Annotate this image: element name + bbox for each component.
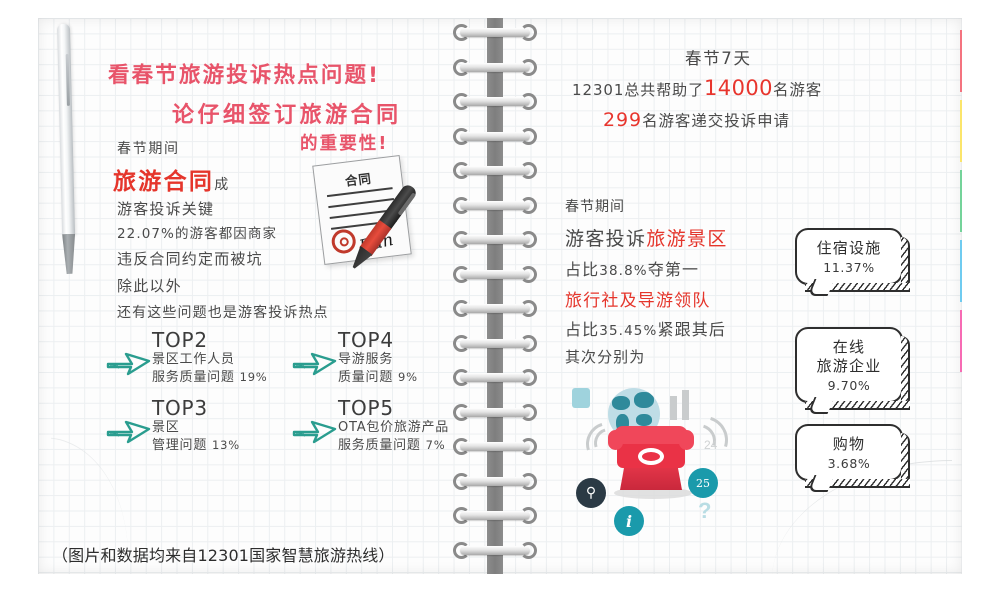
bubble-hatch-shadow [805, 283, 910, 292]
arrow-right-icon [106, 342, 152, 376]
spiral-ring [452, 231, 538, 248]
ring-cap [520, 128, 537, 145]
left-row-5: 还有这些问题也是游客投诉热点 [117, 302, 329, 322]
agency-percent: 35.45% [599, 323, 657, 339]
source-attribution: （图片和数据均来自12301国家智慧旅游热线） [52, 542, 395, 566]
telephone-dial [638, 448, 664, 465]
spiral-ring [452, 438, 538, 455]
complaints-count: 299 [603, 109, 642, 131]
row5-prefix: 占比 [565, 320, 599, 339]
ring-cap [520, 93, 537, 110]
spiral-ring [452, 266, 538, 283]
ring-cap [520, 369, 537, 386]
row3-suffix: 夺第一 [648, 260, 699, 279]
ring-cap [520, 59, 537, 76]
ring-cap [520, 438, 537, 455]
headline-line-1: 看春节旅游投诉热点问题! [108, 58, 380, 89]
left-row-4: 除此以外 [117, 275, 182, 296]
spiral-ring [452, 93, 538, 110]
key-suffix: 成 [214, 177, 229, 193]
spiral-ring [452, 507, 538, 524]
spiral-ring [452, 24, 538, 41]
top-percent: 19% [240, 370, 268, 384]
tourists-helped-count: 14000 [704, 76, 773, 100]
ring-cap [520, 473, 537, 490]
question-mark-icon: ? [698, 498, 711, 524]
bubble-title: 在线 旅游企业 [801, 338, 897, 376]
row5-suffix: 紧跟其后 [657, 320, 725, 339]
stat-bubble-online-agency: 在线 旅游企业 9.70% [795, 327, 903, 403]
hours-24-label: 24 [704, 438, 717, 452]
spiral-ring [452, 300, 538, 317]
row2-percent: 22.07% [117, 226, 175, 242]
bubble-percent: 3.68% [801, 456, 897, 471]
list-item-text: TOP2 景区工作人员 服务质量问题 19% [152, 330, 268, 386]
left-lead-text: 春节期间 [117, 138, 180, 158]
hotline-illustration: ⚲ i 25 ? 24 [572, 388, 742, 538]
top-line-2-text: 服务质量问题 [338, 438, 421, 453]
arrow-right-icon [292, 410, 338, 444]
page-margin-top [0, 0, 1000, 18]
list-item-text: TOP3 景区 管理问题 13% [152, 398, 240, 454]
arrow-right-icon [292, 342, 338, 376]
arrow-right-icon [106, 410, 152, 444]
spiral-ring [452, 59, 538, 76]
spiral-ring [452, 335, 538, 352]
hotline-code-prefix: 12301总共帮助了 [572, 81, 704, 99]
headline-line-2: 论仔细签订旅游合同 [172, 97, 402, 129]
list-item-text: TOP5 OTA包价旅游产品 服务质量问题 7% [338, 398, 449, 454]
top-line-2: 服务质量问题 19% [152, 369, 268, 387]
right-row-6: 其次分别为 [565, 346, 645, 367]
ring-cap [520, 24, 537, 41]
top-line-1: 景区 [152, 419, 240, 437]
left-key-line: 旅游合同成 [113, 162, 229, 196]
scenic-area-percent: 38.8% [599, 263, 648, 279]
top-line-2: 服务质量问题 7% [338, 437, 449, 455]
top-rank: TOP3 [152, 398, 240, 419]
info-icon: i [614, 506, 644, 536]
top-line-2: 管理问题 13% [152, 437, 240, 455]
spiral-ring [452, 404, 538, 421]
ring-cap [520, 335, 537, 352]
row2-rest: 的游客都因商家 [175, 226, 277, 242]
top-percent: 9% [398, 370, 418, 384]
left-row-1: 游客投诉关键 [117, 198, 214, 219]
list-item-text: TOP4 导游服务 质量问题 9% [338, 330, 418, 386]
stat-bubble-accommodation: 住宿设施 11.37% [795, 228, 903, 285]
map-pin-icon [572, 388, 590, 408]
search-icon: ⚲ [576, 478, 606, 508]
row2-highlight: 旅游景区 [646, 228, 727, 250]
right-row-5: 占比35.45%紧跟其后 [565, 316, 726, 340]
complaints-label: 名游客递交投诉申请 [642, 112, 790, 130]
ring-cap [520, 507, 537, 524]
ring-cap [520, 162, 537, 179]
calendar-icon: 25 [688, 468, 718, 498]
top-line-1: OTA包价旅游产品 [338, 419, 449, 437]
key-highlight: 旅游合同 [113, 169, 214, 195]
bubble-title: 购物 [801, 435, 897, 454]
spiral-ring [452, 128, 538, 145]
ring-cap [520, 542, 537, 559]
row3-prefix: 占比 [565, 260, 599, 279]
infographic-root: 看春节旅游投诉热点问题! 论仔细签订旅游合同 的重要性! 春节期间 旅游合同成 … [0, 0, 1000, 592]
stat-header-line-3: 299名游客递交投诉申请 [603, 109, 790, 131]
top-rank: TOP4 [338, 330, 418, 351]
ring-cap [520, 231, 537, 248]
bubble-title: 住宿设施 [801, 239, 897, 258]
spiral-ring [452, 162, 538, 179]
bubble-hatch-shadow [805, 479, 910, 488]
page-margin-right [962, 0, 1000, 592]
top-line-2-text: 质量问题 [338, 370, 393, 385]
pen-tip [62, 234, 76, 274]
left-row-2: 22.07%的游客都因商家 [117, 222, 277, 242]
right-row-1: 春节期间 [565, 196, 625, 216]
top-rank: TOP5 [338, 398, 449, 419]
headline-line-3: 的重要性! [300, 130, 388, 155]
tourists-helped-unit: 名游客 [773, 81, 822, 99]
contract-illustration: 合同 Ran [318, 160, 438, 270]
top-line-1: 导游服务 [338, 351, 418, 369]
red-seal-stamp-icon [330, 228, 357, 255]
page-margin-left [0, 0, 38, 592]
right-row-4: 旅行社及导游领队 [565, 286, 711, 311]
bubble-percent: 11.37% [801, 260, 897, 275]
top-line-2: 质量问题 9% [338, 369, 418, 387]
top-line-1: 景区工作人员 [152, 351, 268, 369]
stat-header-line-1: 春节7天 [685, 45, 752, 69]
stat-header-line-2: 12301总共帮助了14000名游客 [572, 76, 822, 100]
bubble-hatch-shadow [805, 401, 910, 410]
top-complaints-list: TOP2 景区工作人员 服务质量问题 19% TOP3 景区 管理问题 13% [108, 330, 468, 480]
spiral-ring [452, 542, 538, 559]
ring-cap [520, 300, 537, 317]
spiral-rings [452, 18, 538, 574]
ring-cap [520, 197, 537, 214]
contract-text-line [328, 198, 394, 208]
ring-cap [520, 266, 537, 283]
row2-prefix: 游客投诉 [565, 228, 646, 250]
spiral-ring [452, 369, 538, 386]
left-row-3: 违反合同约定而被坑 [117, 248, 263, 269]
page-margin-bottom [0, 574, 1000, 592]
bubble-hatch-shadow [901, 336, 910, 408]
spiral-ring [452, 473, 538, 490]
top-percent: 13% [212, 438, 240, 452]
telephone-handset [614, 426, 688, 444]
stat-bubble-shopping: 购物 3.68% [795, 424, 903, 481]
bubble-percent: 9.70% [801, 378, 897, 393]
top-line-2-text: 管理问题 [152, 438, 207, 453]
trend-arrows-icon [668, 388, 696, 420]
right-row-3: 占比38.8%夺第一 [565, 256, 699, 280]
right-row-2: 游客投诉旅游景区 [565, 224, 728, 251]
spiral-ring [452, 197, 538, 214]
top-rank: TOP2 [152, 330, 268, 351]
top-line-2-text: 服务质量问题 [152, 370, 235, 385]
ring-cap [520, 404, 537, 421]
top-percent: 7% [426, 438, 446, 452]
